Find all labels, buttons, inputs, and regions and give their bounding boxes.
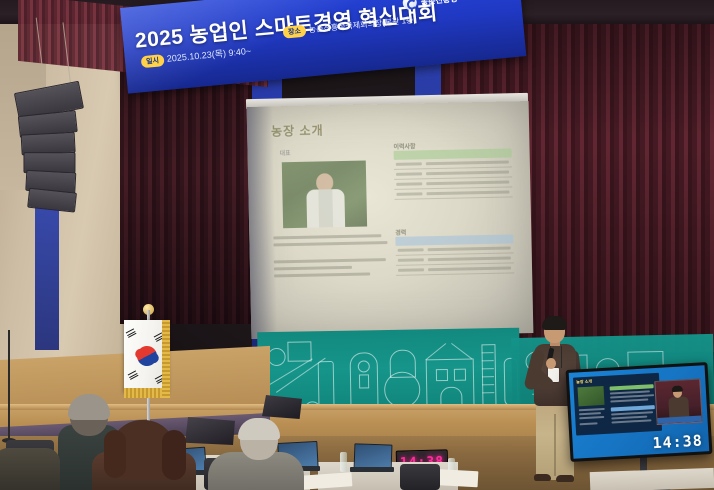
audience-table-far-right — [590, 468, 714, 490]
flag-fringe-right — [162, 320, 170, 398]
slide-title: 농장 소개 — [271, 121, 324, 139]
slide-description-text — [273, 234, 390, 281]
presenter-hand — [546, 358, 556, 369]
presenter-shoe-left — [534, 474, 551, 481]
slide-section-heading-2: 경력 — [395, 228, 406, 237]
banner-date-pill: 일시 — [141, 54, 165, 68]
presenter-shoe-right — [556, 475, 574, 482]
organization-logo-icon — [402, 0, 417, 10]
microphone-stand-left — [8, 330, 10, 440]
conference-hall-scene: 2025 농업인 스마트경영 혁신대회 일시2025.10.23(목) 9:40… — [0, 0, 714, 490]
camera-feed-person-hair — [672, 386, 683, 393]
mirrored-slide-photo — [578, 386, 605, 406]
slide-table-career — [395, 234, 514, 275]
slide-section-heading-1: 이력사항 — [393, 141, 415, 150]
audience-chair-right — [400, 464, 440, 490]
confidence-monitor-screen: 농장 소개 14:38 — [569, 365, 710, 458]
trigram-ri-icon — [128, 370, 140, 381]
water-bottle-1 — [340, 452, 347, 472]
stage-monitor-speaker-2 — [262, 395, 302, 419]
photo-person-vest — [318, 189, 333, 227]
confidence-monitor[interactable]: 농장 소개 14:38 — [566, 362, 713, 462]
korean-national-flag — [118, 310, 180, 428]
camera-feed-lower-band — [657, 416, 701, 424]
presenter-leg-seam — [554, 414, 556, 476]
mirrored-slide-title: 농장 소개 — [576, 379, 592, 386]
presentation-timer: 14:38 — [652, 432, 703, 453]
table-row — [396, 263, 514, 275]
table-row — [394, 187, 512, 199]
banner-location-pill: 장소 — [282, 25, 306, 39]
projection-screen: 농장 소개 대표 이력사항 — [247, 101, 534, 339]
taeguk-symbol-icon — [133, 342, 160, 369]
projected-slide: 농장 소개 대표 이력사항 — [265, 115, 521, 325]
mirrored-slide: 농장 소개 — [573, 373, 662, 436]
slide-farmer-photo — [282, 160, 367, 228]
slide-table-history — [394, 148, 513, 199]
laptop-base-right — [350, 467, 394, 472]
slide-photo-label: 대표 — [279, 148, 290, 157]
trigram-geon-icon — [126, 328, 138, 339]
presenter-camera-feed — [654, 379, 702, 425]
presenter-hair — [542, 316, 567, 330]
ceiling-line-array-speaker — [14, 82, 101, 218]
organization-logo-text: 농촌진흥청 — [420, 0, 458, 8]
stage-monitor-speaker-1 — [185, 417, 235, 445]
